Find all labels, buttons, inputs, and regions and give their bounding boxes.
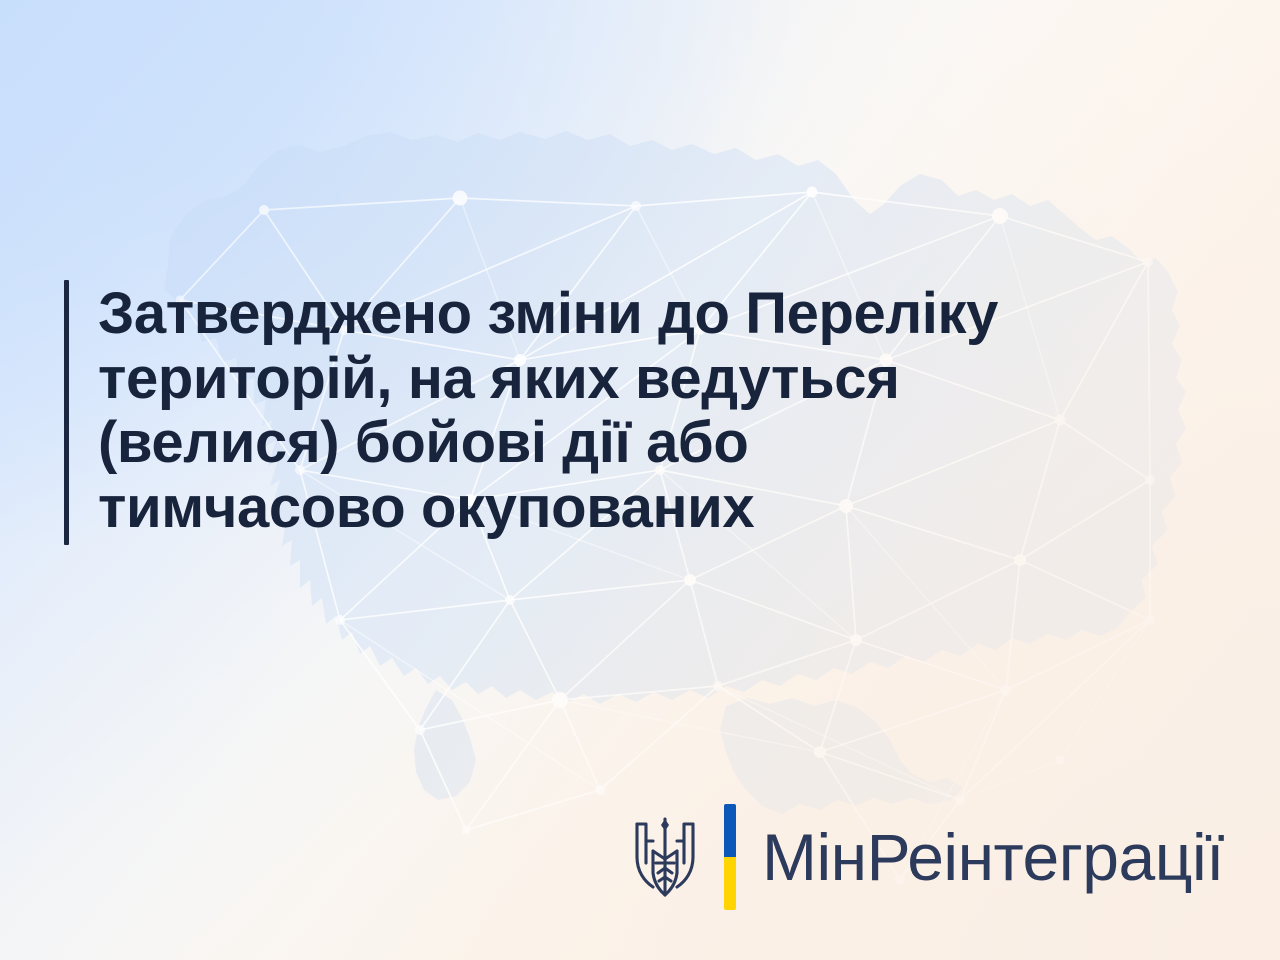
ukraine-flag-bar	[724, 804, 736, 910]
headline-block: Затверджено зміни до Переліку територій,…	[64, 280, 1224, 545]
page-title: Затверджено зміни до Переліку територій,…	[98, 280, 998, 545]
announcement-card: Затверджено зміни до Переліку територій,…	[0, 0, 1280, 960]
ministry-logo-lockup: МінРеінтеграції	[628, 804, 1224, 910]
ukraine-trident-emblem-icon	[628, 811, 702, 903]
flag-yellow-stripe	[724, 857, 736, 910]
flag-blue-stripe	[724, 804, 736, 857]
ministry-wordmark: МінРеінтеграції	[762, 824, 1224, 890]
accent-bar	[64, 280, 69, 545]
